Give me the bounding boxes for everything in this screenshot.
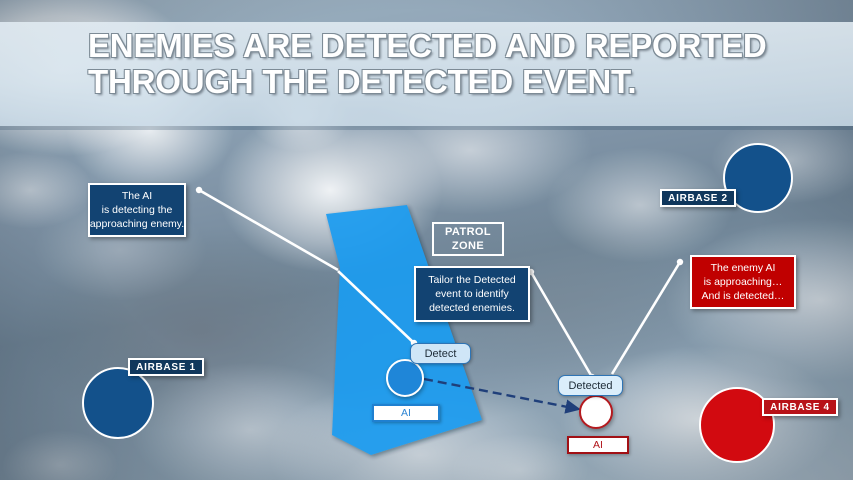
blue-ai-tag[interactable]: AI [372,404,440,422]
leader-line-ai-detecting [199,190,338,270]
leader-line-enemy [612,262,680,374]
callout-line: The AI [122,189,152,203]
leader-line-tailor [531,272,592,377]
callout-line: approaching enemy. [90,217,184,231]
callout-line: And is detected… [702,289,785,303]
callout-line: Tailor the Detected [428,273,516,287]
callout-line: event to identify [435,287,509,301]
slide-canvas: ENEMIES ARE DETECTED AND REPORTED THROUG… [0,0,853,480]
blue-ai-badge[interactable] [386,359,424,397]
detect-node[interactable]: Detect [410,343,471,364]
airbase-4-label[interactable]: AIRBASE 4 [762,398,838,416]
patrol-zone-label[interactable]: PATROL ZONE [432,222,504,256]
callout-ai-detecting[interactable]: The AI is detecting the approaching enem… [88,183,186,237]
airbase-1-label[interactable]: AIRBASE 1 [128,358,204,376]
patrol-zone-label-line: ZONE [452,239,484,253]
airbase-1-circle[interactable] [82,367,154,439]
callout-line: is detecting the [102,203,173,217]
leader-dot-ai-detecting [196,187,202,193]
callout-tailor-detected-event[interactable]: Tailor the Detected event to identify de… [414,266,530,322]
callout-line: The enemy AI [711,261,776,275]
detected-node[interactable]: Detected [558,375,623,396]
red-ai-badge[interactable] [579,395,613,429]
callout-line: detected enemies. [429,301,515,315]
leader-dot-enemy [677,259,683,265]
airbase-2-label[interactable]: AIRBASE 2 [660,189,736,207]
patrol-zone-label-line: PATROL [445,225,491,239]
callout-enemy-approaching[interactable]: The enemy AI is approaching… And is dete… [690,255,796,309]
red-ai-tag[interactable]: AI [567,436,629,454]
callout-line: is approaching… [704,275,783,289]
